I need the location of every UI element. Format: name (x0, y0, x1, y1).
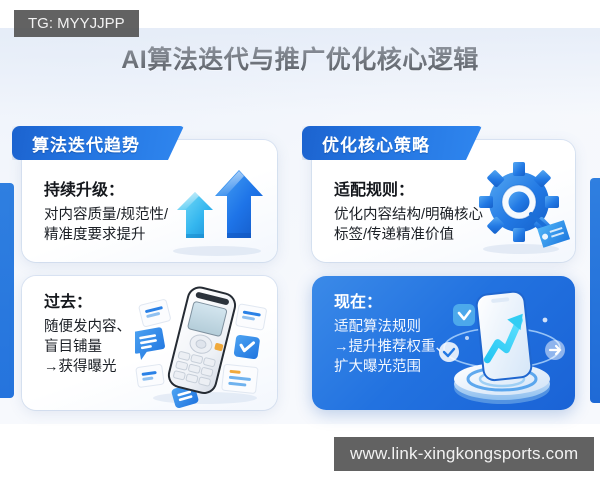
page-title: AI算法迭代与推广优化核心逻辑 (0, 40, 600, 76)
card-lead: 过去： (44, 292, 131, 314)
card-line: 优化内容结构/明确核心 (334, 205, 483, 225)
card-algorithm-trend: 算法迭代趋势 持续升级： 对内容质量/规范性/ 精准度要求提升 (22, 140, 277, 262)
card-present-approach: 现在： 适配算法规则 →提升推荐权重、 扩大曝光范围 (312, 276, 575, 410)
card-lead: 适配规则： (334, 180, 483, 202)
card-body: 适配规则： 优化内容结构/明确核心 标签/传递精准价值 (334, 180, 483, 245)
card-body: 持续升级： 对内容质量/规范性/ 精准度要求提升 (44, 180, 168, 245)
card-ribbon-label: 优化核心策略 (302, 126, 482, 160)
card-core-strategy: 优化核心策略 适配规则： 优化内容结构/明确核心 标签/传递精准价值 (312, 140, 575, 262)
double-up-arrows-icon (165, 158, 269, 258)
left-accent-strip (0, 183, 14, 398)
url-watermark: www.link-xingkongsports.com (334, 437, 594, 471)
card-line: →获得曝光 (44, 357, 131, 377)
card-body: 过去： 随便发内容、 盲目铺量 →获得曝光 (44, 292, 131, 377)
gear-magnifier-tag-icon (467, 154, 571, 258)
poster-canvas: AI算法迭代与推广优化核心逻辑 算法迭代趋势 持续升级： 对内容质量/规范性/ … (0, 28, 600, 424)
card-line: 随便发内容、 (44, 317, 131, 337)
card-ribbon-label: 算法迭代趋势 (12, 126, 184, 160)
card-lead: 持续升级： (44, 180, 168, 202)
right-accent-strip (590, 178, 600, 403)
card-past-approach: 过去： 随便发内容、 盲目铺量 →获得曝光 (22, 276, 277, 410)
feature-phone-icon (135, 280, 275, 408)
card-line: 标签/传递精准价值 (334, 225, 483, 245)
telegram-watermark: TG: MYYJJPP (14, 10, 139, 37)
card-line: 精准度要求提升 (44, 225, 168, 245)
card-line: 盲目铺量 (44, 337, 131, 357)
card-line: 对内容质量/规范性/ (44, 205, 168, 225)
smartphone-growth-chart-icon (433, 280, 571, 408)
